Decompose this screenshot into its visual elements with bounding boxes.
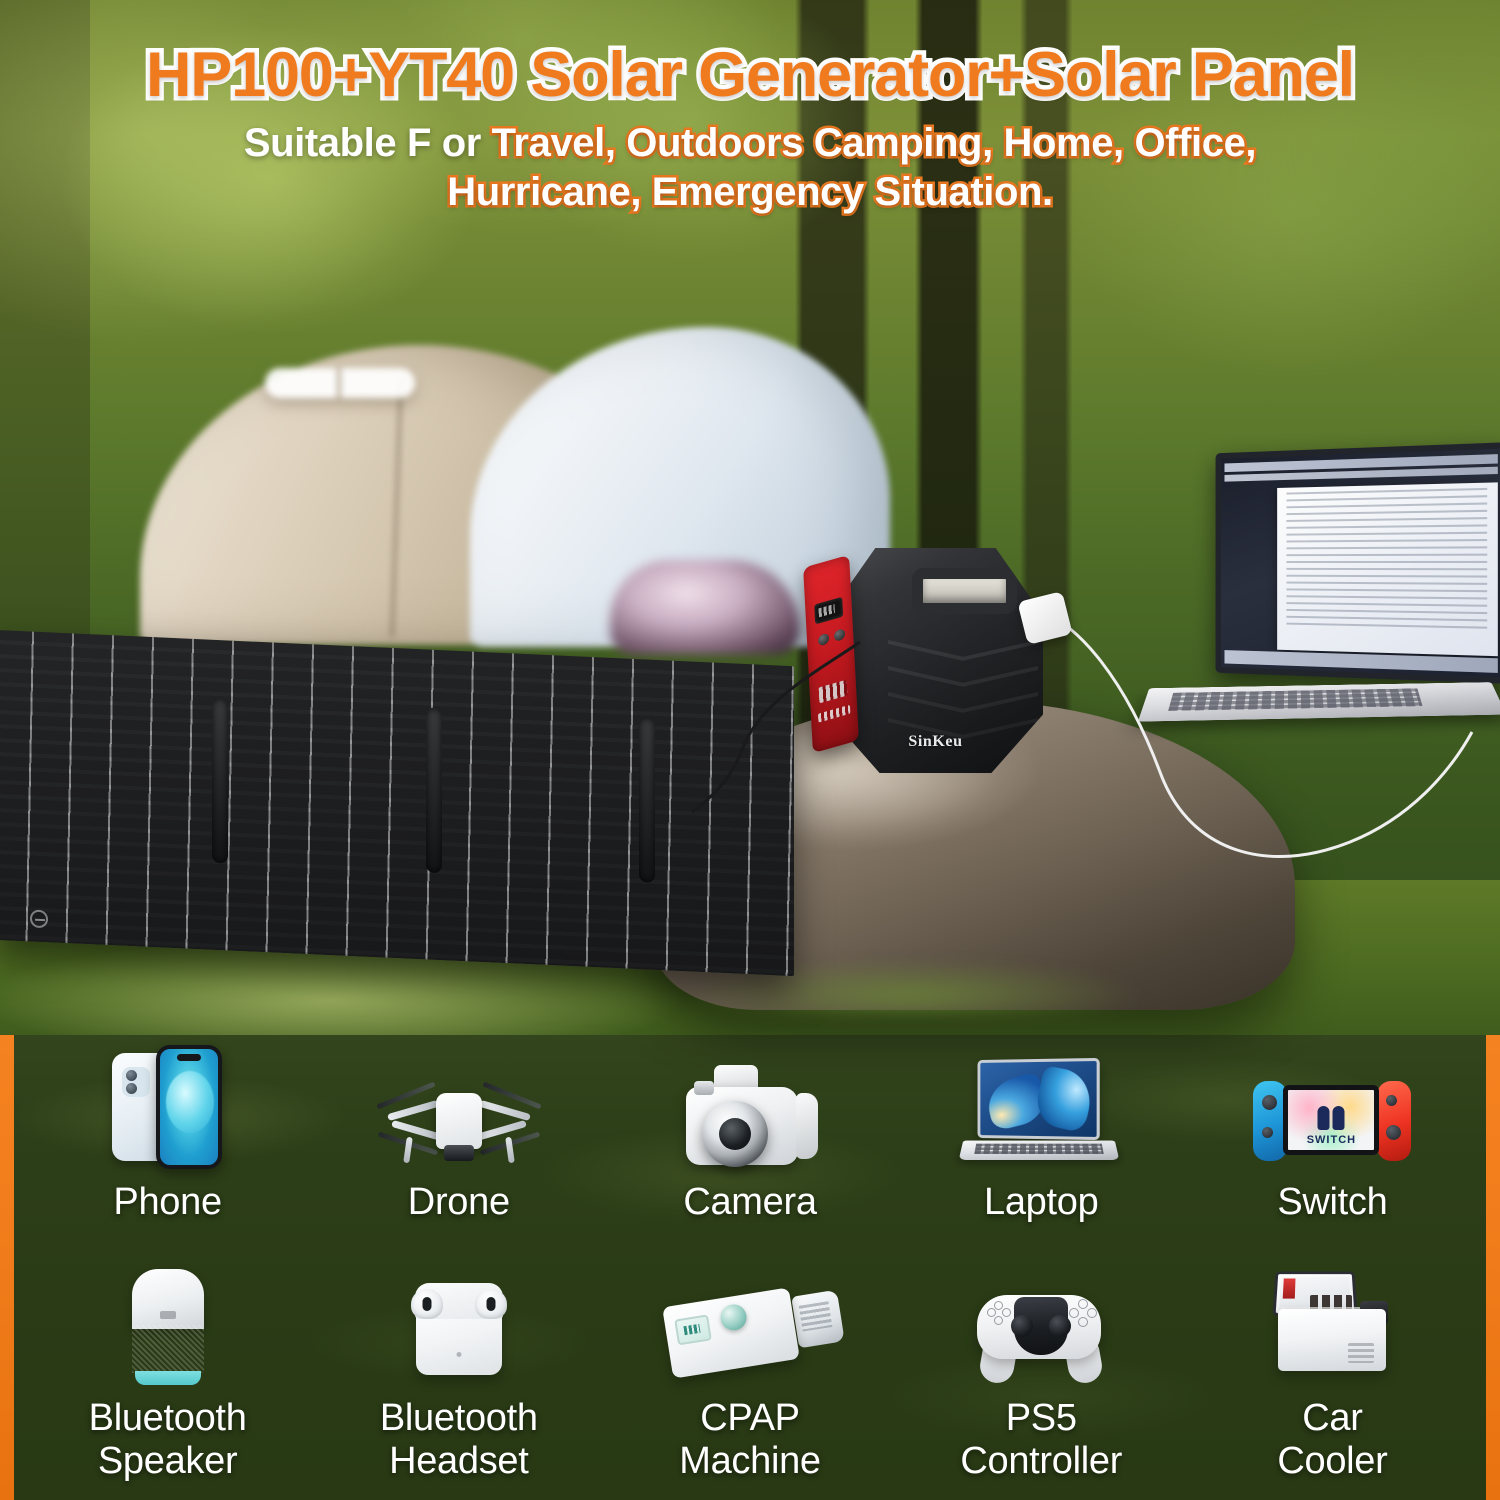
device-item-drone[interactable]: Drone [313, 1039, 604, 1259]
headline-block: HP100+YT40 Solar Generator+Solar Panel S… [0, 42, 1500, 216]
device-art [108, 1039, 228, 1171]
panel-logo-icon [30, 909, 48, 928]
tent-vent [265, 368, 415, 398]
cpap-machine-icon [665, 1267, 835, 1387]
accent-bar-left [0, 1035, 14, 1500]
device-item-switch[interactable]: SWITCH Switch [1187, 1039, 1478, 1259]
device-art [108, 1247, 228, 1387]
smartphone-icon [108, 1045, 228, 1171]
camping-tent [140, 315, 900, 645]
device-item-phone[interactable]: Phone [22, 1039, 313, 1259]
device-label: Phone [113, 1181, 221, 1224]
nintendo-switch-icon: SWITCH [1253, 1071, 1411, 1171]
ps5-controller-icon [971, 1261, 1111, 1387]
compatible-devices-section: Phone Drone [0, 1035, 1500, 1500]
device-art [379, 1039, 539, 1171]
device-art [971, 1247, 1111, 1387]
car-cooler-icon [1262, 1263, 1402, 1387]
panel-slot-3 [639, 717, 655, 883]
device-art [680, 1039, 820, 1171]
subtitle-prefix: Suitable F or [244, 121, 492, 165]
earbuds-icon [399, 1267, 519, 1387]
device-label: Bluetooth Headset [380, 1397, 538, 1482]
station-handle [912, 568, 1017, 614]
switch-wordmark: SWITCH [1288, 1134, 1374, 1146]
page-subtitle: Suitable F or Travel, Outdoors Camping, … [0, 119, 1500, 217]
subtitle-highlight-line1: Travel, Outdoors Camping, Home, Office, [492, 121, 1257, 165]
solar-panel-cable [690, 630, 870, 820]
solar-cell-texture [0, 630, 794, 976]
station-lcd-display [814, 597, 843, 625]
device-art [1262, 1247, 1402, 1387]
device-label: Bluetooth Speaker [89, 1397, 247, 1482]
drone-icon [379, 1063, 539, 1171]
device-row-1: Phone Drone [22, 1039, 1478, 1259]
device-item-cpap-machine[interactable]: CPAP Machine [604, 1247, 895, 1497]
device-item-bluetooth-headset[interactable]: Bluetooth Headset [313, 1247, 604, 1497]
device-art: SWITCH [1253, 1039, 1411, 1171]
device-label: Car Cooler [1277, 1397, 1387, 1482]
device-item-ps5-controller[interactable]: PS5 Controller [896, 1247, 1187, 1497]
panel-slot-1 [212, 698, 228, 864]
bluetooth-speaker-icon [108, 1259, 228, 1387]
device-row-2: Bluetooth Speaker Bluetooth Headset [22, 1247, 1478, 1497]
device-label: Laptop [984, 1181, 1098, 1224]
device-label: CPAP Machine [679, 1397, 821, 1482]
page-title: HP100+YT40 Solar Generator+Solar Panel [0, 42, 1500, 109]
product-poster: SinKeu [0, 0, 1500, 1500]
subtitle-highlight-line2: Hurricane, Emergency Situation. [447, 170, 1053, 214]
laptop-icon [961, 1051, 1121, 1171]
accent-bar-right [1486, 1035, 1500, 1500]
device-label: PS5 Controller [960, 1397, 1122, 1482]
device-label: Drone [408, 1181, 510, 1224]
laptop-charging-cable [1010, 592, 1480, 892]
device-item-laptop[interactable]: Laptop [896, 1039, 1187, 1259]
device-art [399, 1247, 519, 1387]
camera-icon [680, 1059, 820, 1171]
device-label: Switch [1277, 1181, 1387, 1224]
device-art [961, 1039, 1121, 1171]
device-item-camera[interactable]: Camera [604, 1039, 895, 1259]
device-label: Camera [683, 1181, 816, 1224]
device-item-car-cooler[interactable]: Car Cooler [1187, 1247, 1478, 1497]
foldable-solar-panel [0, 630, 794, 976]
panel-slot-2 [426, 707, 442, 873]
device-art [665, 1247, 835, 1387]
device-item-bluetooth-speaker[interactable]: Bluetooth Speaker [22, 1247, 313, 1497]
